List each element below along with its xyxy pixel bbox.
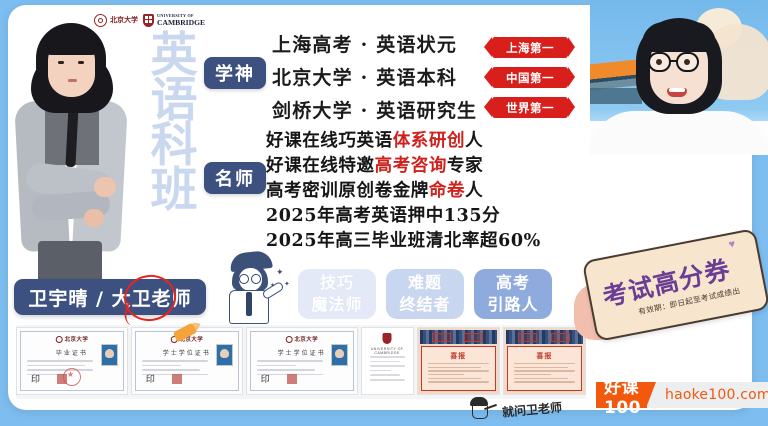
achievement-1-plain1: 好课在线特邀 <box>266 156 375 176</box>
poster-0-title: 喜报 <box>422 351 495 361</box>
thumbnail-certificate-2[interactable]: 北京大学 学士学位证书 印 <box>246 327 358 395</box>
teacher-portrait <box>12 17 132 317</box>
thumbnail-poster-0[interactable]: 喜报 <box>417 327 500 395</box>
achievement-line-0: 好课在线巧英语体系研创人 <box>266 129 586 154</box>
thumbnail-cambridge-letter[interactable]: UNIVERSITY OF CAMBRIDGE <box>361 327 414 395</box>
achievement-line-2: 高考密训原创卷金牌命卷人 <box>266 179 586 204</box>
thumbnail-poster-1[interactable]: 喜报 <box>503 327 586 395</box>
vertical-title-char-3: 班 <box>144 168 204 213</box>
coupon-graphic: ♥ 考试高分券 有效期：即日起至考试成绩出 <box>578 238 768 346</box>
watermark-domain: haoke100.com <box>647 382 768 408</box>
pku-seal-icon <box>56 336 63 343</box>
skill-badge-gaokao: 高考 引路人 <box>474 269 552 319</box>
certificate-0-issuer: 北京大学 <box>65 335 89 343</box>
brand-watermark: 好课100 haoke100.com <box>596 382 768 408</box>
cambridge-letter-issuer: UNIVERSITY OF CAMBRIDGE <box>362 347 413 355</box>
teacher-name-banner: 卫宇晴 / 大卫老师 <box>14 279 206 315</box>
certificate-0-stamp-icon <box>63 368 81 386</box>
skill-badge-technique: 技巧 魔法师 <box>298 269 376 319</box>
skill-badge-technique-line2: 魔法师 <box>311 294 362 316</box>
achievement-0-highlight: 体系研创 <box>393 131 465 151</box>
certificate-1-signature: 印 <box>146 372 155 385</box>
achievement-0-plain2: 人 <box>465 131 483 151</box>
achievement-2-highlight: 命卷 <box>429 181 465 201</box>
rank-ribbons: 上海第一 中国第一 世界第一 <box>492 37 568 127</box>
cambridge-shield-icon <box>383 333 392 344</box>
skill-badge-problem: 难题 终结者 <box>386 269 464 319</box>
certificate-1-photo <box>216 344 233 366</box>
certificate-2-logo: 北京大学 <box>285 335 318 343</box>
achievement-lines: 好课在线巧英语体系研创人 好课在线特邀高考咨询专家 高考密训原创卷金牌命卷人 2… <box>266 129 586 254</box>
certificate-0-photo <box>101 344 118 366</box>
signature-figure-icon <box>466 396 500 420</box>
rank-ribbon-china: 中国第一 <box>492 67 568 88</box>
achievement-0-plain1: 好课在线巧英语 <box>266 131 393 151</box>
signature-note: 就问卫老师 <box>464 396 576 422</box>
vertical-course-title: 英 语 科 班 <box>144 33 204 213</box>
heart-icon: ♥ <box>728 238 737 251</box>
skill-badge-problem-line1: 难题 <box>408 272 442 294</box>
vertical-title-char-2: 科 <box>144 123 204 168</box>
skill-badge-gaokao-line2: 引路人 <box>487 294 538 316</box>
exam-high-score-coupon[interactable]: ♥ 考试高分券 有效期：即日起至考试成绩出 <box>582 228 768 342</box>
vertical-title-char-0: 英 <box>144 33 204 78</box>
poster-1-title: 喜报 <box>508 351 581 361</box>
tag-chip-master: 名师 <box>204 162 266 194</box>
certificate-2-photo <box>331 344 348 366</box>
achievement-1-plain2: 专家 <box>447 156 483 176</box>
achievement-line-1: 好课在线特邀高考咨询专家 <box>266 154 586 179</box>
achievement-line-4: 2025年高三毕业班清北率超60% <box>266 229 586 254</box>
rank-ribbon-shanghai: 上海第一 <box>492 37 568 58</box>
presenter-photo-column: 英 语 科 班 <box>8 5 208 325</box>
thumbnail-certificate-0[interactable]: 北京大学 毕业证书 印 <box>16 327 128 395</box>
vertical-title-char-1: 语 <box>144 78 204 123</box>
presentation-stage: 北京大学 UNIVERSITY OF CAMBRIDGE <box>0 0 768 426</box>
achievement-line-3: 2025年高考英语押中135分 <box>266 204 586 229</box>
certificate-0-logo: 北京大学 <box>56 335 89 343</box>
skill-badge-gaokao-line1: 高考 <box>496 272 530 294</box>
tag-chip-scholar: 学神 <box>204 57 266 89</box>
achievement-1-highlight: 高考咨询 <box>375 156 447 176</box>
achievement-2-plain2: 人 <box>465 181 483 201</box>
skill-badge-technique-line1: 技巧 <box>320 272 354 294</box>
credential-thumbnail-strip: 北京大学 毕业证书 印 北京大学 学士学位证书 印 <box>16 327 586 397</box>
signature-note-text: 就问卫老师 <box>501 398 562 420</box>
rank-ribbon-world: 世界第一 <box>492 97 568 118</box>
webcam-video-overlay[interactable] <box>590 0 768 155</box>
mascot-cartoon-icon: ✦ ✦ ✦ <box>218 252 292 324</box>
watermark-brand: 好课100 <box>596 382 647 408</box>
pku-seal-icon <box>285 336 292 343</box>
certificate-2-signature: 印 <box>261 372 270 385</box>
achievement-2-plain1: 高考密训原创卷金牌 <box>266 181 429 201</box>
certificate-2-issuer: 北京大学 <box>294 335 318 343</box>
skill-badges: 技巧 魔法师 难题 终结者 高考 引路人 <box>298 269 552 319</box>
skill-badge-problem-line2: 终结者 <box>399 294 450 316</box>
certificate-0-signature: 印 <box>31 372 40 385</box>
